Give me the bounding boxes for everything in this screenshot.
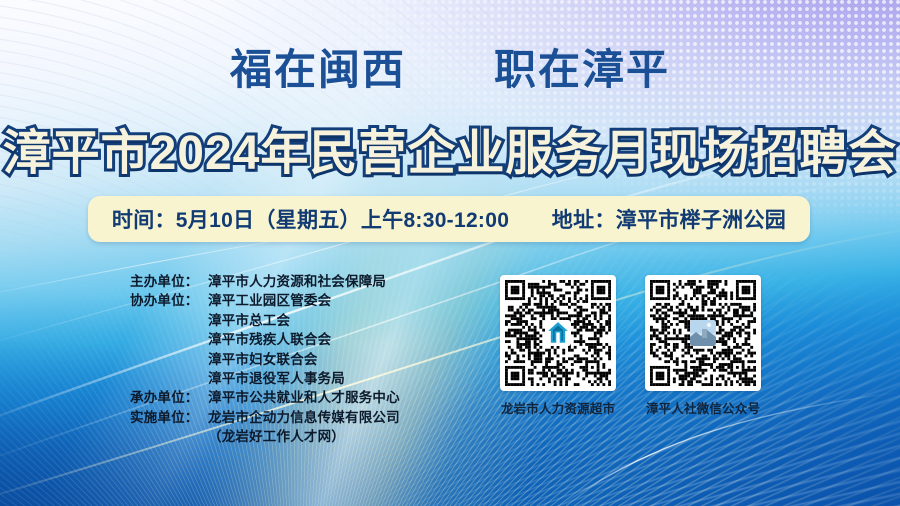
organizer-value: （龙岩好工作人才网） xyxy=(208,427,345,446)
organizer-label xyxy=(130,369,208,388)
organizer-value: 漳平市残疾人联合会 xyxy=(208,330,331,349)
organizer-label xyxy=(130,350,208,369)
organizer-row: 漳平市总工会 xyxy=(130,311,400,330)
qr-code-block[interactable]: 漳平人社微信公众号 xyxy=(645,275,761,417)
organizer-row: 主办单位：漳平市人力资源和社会保障局 xyxy=(130,272,400,291)
organizer-value: 漳平市总工会 xyxy=(208,311,290,330)
organizer-label: 实施单位： xyxy=(130,408,208,427)
organizer-label: 协办单位： xyxy=(130,291,208,310)
organizer-value: 漳平市人力资源和社会保障局 xyxy=(208,272,386,291)
organizer-row: 漳平市妇女联合会 xyxy=(130,350,400,369)
organizer-label: 主办单位： xyxy=(130,272,208,291)
qr-code-group: 龙岩市人力资源超市漳平人社微信公众号 xyxy=(500,275,761,417)
organizer-label: 承办单位： xyxy=(130,388,208,407)
qr-code-block[interactable]: 龙岩市人力资源超市 xyxy=(500,275,616,417)
qr-code-image[interactable] xyxy=(645,275,761,391)
organizer-value: 漳平市退役军人事务局 xyxy=(208,369,345,388)
organizer-label xyxy=(130,427,208,446)
page-title: 漳平市2024年民营企业服务月现场招聘会 xyxy=(0,113,900,183)
recruitment-poster: 福在闽西 职在漳平 漳平市2024年民营企业服务月现场招聘会 漳平市2024年民… xyxy=(0,0,900,506)
organizer-list: 主办单位：漳平市人力资源和社会保障局协办单位：漳平工业园区管委会漳平市总工会漳平… xyxy=(130,272,400,447)
landscape-photo-logo-icon xyxy=(690,320,716,346)
organizer-value: 漳平市妇女联合会 xyxy=(208,350,318,369)
poster-content: 福在闽西 职在漳平 漳平市2024年民营企业服务月现场招聘会 漳平市2024年民… xyxy=(0,0,900,506)
organizer-value: 龙岩市企动力信息传媒有限公司 xyxy=(208,408,400,427)
qr-code-caption: 龙岩市人力资源超市 xyxy=(500,398,616,417)
organizer-row: 漳平市退役军人事务局 xyxy=(130,369,400,388)
organizer-label xyxy=(130,311,208,330)
organizer-value: 漳平市公共就业和人才服务中心 xyxy=(208,388,400,407)
organizer-row: 实施单位：龙岩市企动力信息传媒有限公司 xyxy=(130,408,400,427)
qr-code-caption: 漳平人社微信公众号 xyxy=(645,398,761,417)
organizer-row: 承办单位：漳平市公共就业和人才服务中心 xyxy=(130,388,400,407)
organizer-row: 协办单位：漳平工业园区管委会 xyxy=(130,291,400,310)
organizer-row: （龙岩好工作人才网） xyxy=(130,427,400,446)
page-headline: 福在闽西 职在漳平 xyxy=(0,36,900,97)
organizer-row: 漳平市残疾人联合会 xyxy=(130,330,400,349)
organizer-value: 漳平工业园区管委会 xyxy=(208,291,331,310)
house-arrow-logo-icon xyxy=(545,320,571,346)
event-info-text: 时间：5月10日（星期五）上午8:30-12:00 地址：漳平市榉子洲公园 xyxy=(112,204,786,234)
organizer-label xyxy=(130,330,208,349)
qr-code-image[interactable] xyxy=(500,275,616,391)
event-info-banner: 时间：5月10日（星期五）上午8:30-12:00 地址：漳平市榉子洲公园 xyxy=(88,196,810,242)
